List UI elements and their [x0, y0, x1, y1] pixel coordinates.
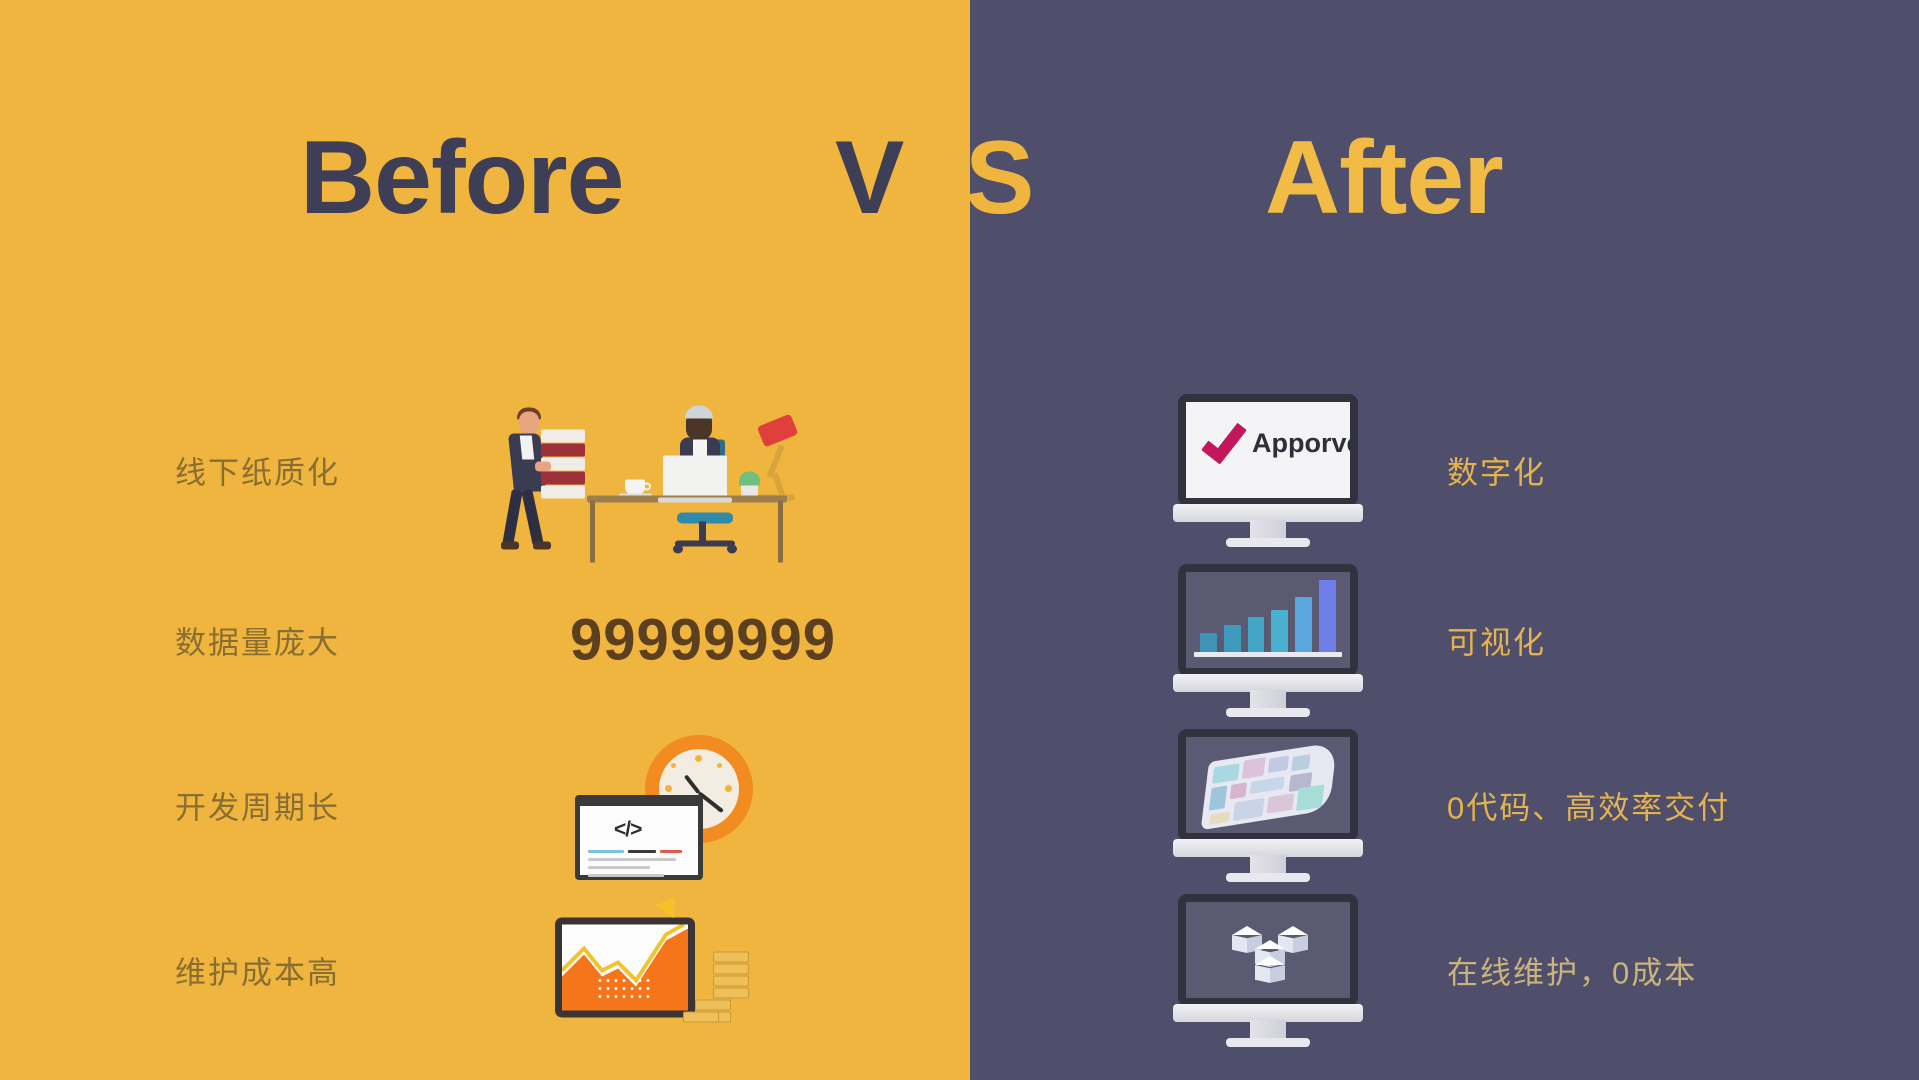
seated-worker-hair — [685, 406, 713, 419]
bar-chart — [1200, 580, 1336, 652]
clock-marker — [695, 755, 702, 762]
cube-top — [1232, 926, 1262, 935]
monitor-screen: Apporve — [1186, 402, 1350, 498]
isometric-cubes-icon — [1232, 918, 1308, 984]
office-paperwork-illustration — [495, 388, 795, 553]
desk-leg-right — [778, 501, 783, 563]
chart-coins-illustration — [555, 908, 755, 1033]
carrier-arm — [535, 462, 551, 472]
code-window: </> — [575, 795, 703, 880]
code-line — [588, 858, 676, 861]
monitor-stand-neck — [1250, 520, 1286, 540]
monitor-screen — [1186, 737, 1350, 833]
monitor-approve: Apporve — [1178, 394, 1358, 546]
cube-face-left — [1255, 965, 1270, 983]
desk-leg-left — [590, 501, 595, 563]
comparison-row-4: 维护成本高 — [0, 970, 1919, 980]
code-line — [660, 850, 682, 853]
before-label-1: 线下纸质化 — [175, 448, 340, 493]
before-label-4: 维护成本高 — [175, 948, 340, 993]
cube — [1255, 956, 1285, 986]
after-panel — [970, 0, 1919, 1080]
office-chair-wheel — [727, 545, 737, 554]
map-block — [1209, 785, 1228, 810]
paper-stack-item — [541, 444, 585, 457]
monitor-stand-neck — [1250, 855, 1286, 875]
bar-5 — [1295, 597, 1312, 652]
code-line — [628, 850, 656, 853]
monitor-stand-foot — [1226, 1038, 1310, 1047]
office-chair-wheel — [673, 545, 683, 554]
cube-face-right — [1293, 935, 1308, 953]
after-label-2: 可视化 — [1447, 618, 1546, 663]
comparison-row-2: 数据量庞大 99999999 可视化 — [0, 640, 1919, 650]
carrier-shoe-right — [533, 542, 551, 550]
clock-marker — [725, 785, 732, 792]
before-label-2: 数据量庞大 — [175, 618, 340, 663]
chart-dot-grid — [596, 977, 652, 1003]
approve-screen-text: Apporve — [1252, 428, 1350, 459]
monitor-stand-neck — [1250, 1020, 1286, 1040]
coffee-cup-icon — [625, 480, 645, 495]
after-label-1: 数字化 — [1447, 448, 1546, 493]
cube-top — [1278, 926, 1308, 935]
map-block — [1296, 784, 1324, 811]
coin — [683, 1012, 719, 1023]
cube-top — [1255, 956, 1285, 965]
cube-face-left — [1232, 935, 1247, 953]
coin — [713, 952, 749, 963]
code-glyph-icon: </> — [614, 818, 641, 842]
code-window-clock-illustration: </> — [575, 735, 755, 875]
paper-stack-item — [541, 472, 585, 485]
carrier-shirt — [520, 436, 535, 460]
clock-marker — [717, 763, 722, 768]
office-chair-base — [675, 541, 735, 547]
after-label-3: 0代码、高效率交付 — [1447, 783, 1730, 828]
monitor-city-map — [1178, 729, 1358, 881]
clock-marker — [665, 785, 672, 792]
monitor-stand-foot — [1226, 873, 1310, 882]
tablet-screen — [562, 925, 688, 1011]
coin — [713, 964, 749, 975]
coin — [713, 988, 749, 999]
comparison-slide: Before V S After 线下纸质化 — [0, 0, 1919, 1080]
code-line — [588, 850, 624, 853]
cube-top — [1255, 940, 1285, 949]
comparison-row-3: 开发周期长 </> — [0, 805, 1919, 815]
monitor-stand-foot — [1226, 538, 1310, 547]
comparison-row-1: 线下纸质化 — [0, 470, 1919, 480]
laptop-screen — [663, 456, 727, 500]
bar-4 — [1271, 610, 1288, 652]
laptop-keyboard — [658, 498, 732, 503]
code-line — [588, 866, 650, 869]
paper-stack-item — [541, 430, 585, 443]
code-window-body: </> — [580, 806, 698, 875]
before-label-3: 开发周期长 — [175, 783, 340, 828]
clock-marker — [671, 763, 676, 768]
monitor-cubes — [1178, 894, 1358, 1046]
monitor-stand-neck — [1250, 690, 1286, 710]
bar-chart-axis — [1194, 652, 1342, 657]
bar-6 — [1319, 580, 1336, 652]
monitor-screen — [1186, 902, 1350, 998]
coffee-cup-handle — [643, 483, 651, 491]
tablet-device — [555, 918, 695, 1018]
monitor-frame: Apporve — [1178, 394, 1358, 506]
code-line — [588, 874, 664, 877]
paper-carrier-figure — [495, 406, 585, 554]
monitor-frame — [1178, 729, 1358, 841]
monitor-frame — [1178, 894, 1358, 1006]
before-panel — [0, 0, 970, 1080]
coin — [713, 976, 749, 987]
monitor-frame — [1178, 564, 1358, 676]
bar-3 — [1248, 617, 1265, 652]
monitor-stand-foot — [1226, 708, 1310, 717]
coin-stack — [683, 952, 749, 1032]
monitor-bar-chart — [1178, 564, 1358, 716]
cube-face-right — [1270, 965, 1285, 983]
carrier-head — [519, 412, 539, 435]
desk-lamp-shade — [757, 414, 799, 448]
after-label-4: 在线维护，0成本 — [1447, 948, 1697, 993]
monitor-screen — [1186, 572, 1350, 668]
coin — [695, 1000, 731, 1011]
bar-2 — [1224, 625, 1241, 652]
paper-stack-item — [541, 486, 585, 499]
carrier-shoe-left — [501, 542, 519, 550]
big-number-illustration: 99999999 — [570, 607, 836, 674]
bar-1 — [1200, 633, 1217, 652]
checkmark-icon — [1201, 415, 1247, 464]
carrier-leg-left — [502, 489, 523, 546]
isometric-city-map — [1201, 742, 1338, 830]
